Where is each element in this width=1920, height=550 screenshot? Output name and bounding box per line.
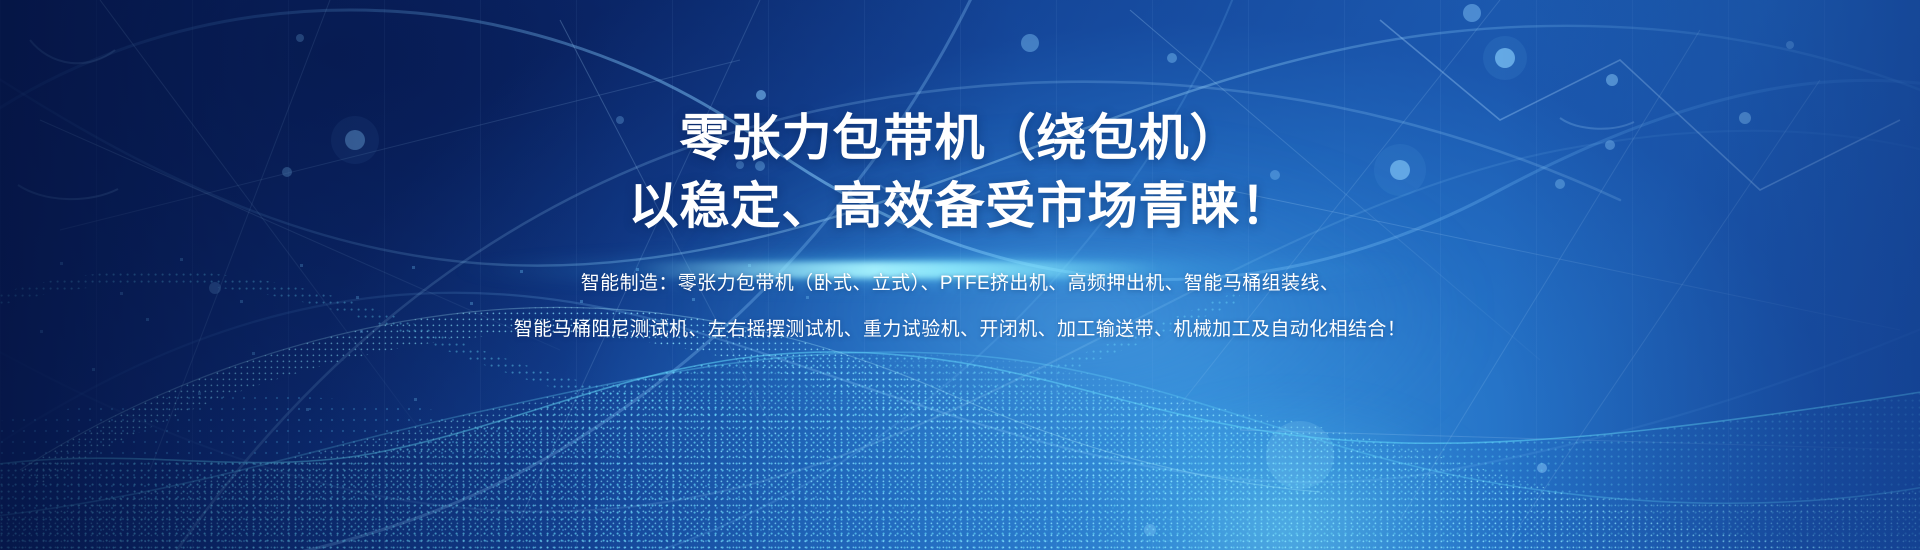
headline-line-2: 以稳定、高效备受市场青睐！ [629,176,1292,236]
hero-banner: 零张力包带机（绕包机） 以稳定、高效备受市场青睐！ 智能制造：零张力包带机（卧式… [0,0,1920,550]
headline-line-1: 零张力包带机（绕包机） [680,108,1241,168]
subtitle-line-1: 智能制造：零张力包带机（卧式、立式）、PTFE挤出机、高频押出机、智能马桶组装线… [581,270,1339,298]
banner-content: 零张力包带机（绕包机） 以稳定、高效备受市场青睐！ 智能制造：零张力包带机（卧式… [0,0,1920,550]
subtitle-line-2: 智能马桶阻尼测试机、左右摇摆测试机、重力试验机、开闭机、加工输送带、机械加工及自… [514,316,1406,344]
